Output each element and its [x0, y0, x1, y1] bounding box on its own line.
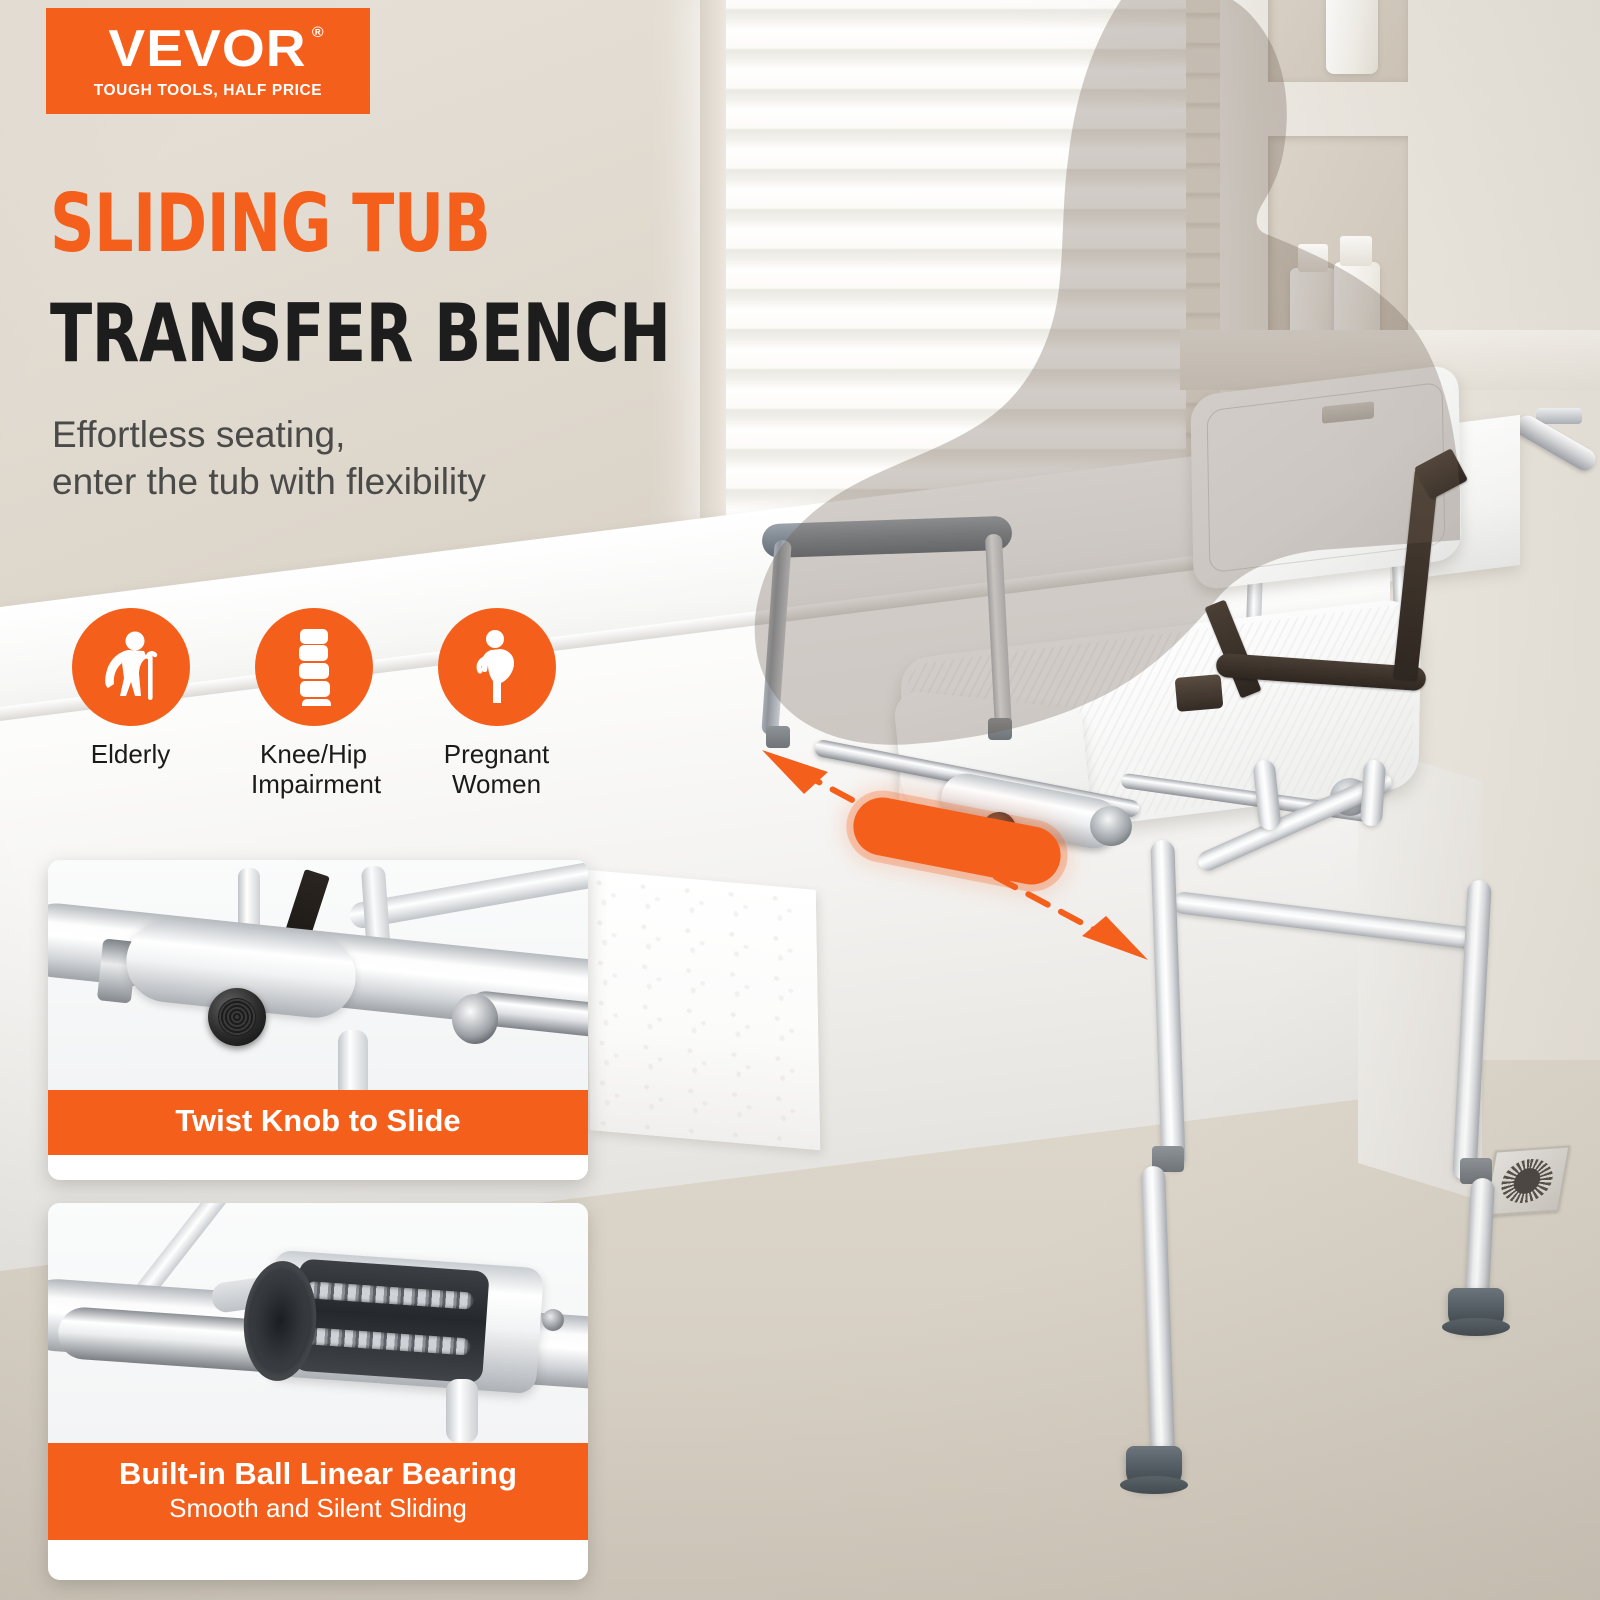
spine-vertebrae-icon: [291, 627, 337, 707]
rubber-foot-right: [1448, 1288, 1504, 1330]
pregnant-woman-icon: [471, 629, 523, 705]
marketing-banner: VEVOR ® TOUGH TOOLS, HALF PRICE SLIDING …: [0, 0, 1600, 1600]
bench-leg-lower-right: [1465, 1177, 1495, 1298]
badge-label-pregnant: Pregnant Women: [434, 740, 559, 799]
audience-badge-pregnant: Pregnant Women: [434, 608, 559, 799]
audience-badge-elderly: Elderly: [68, 608, 193, 799]
housing-screw: [542, 1309, 564, 1331]
rubber-foot-left: [1126, 1446, 1182, 1488]
feature-photo-ball-bearing: [48, 1203, 588, 1443]
seat-support-post-2: [1360, 759, 1387, 826]
safety-belt-buckle: [1175, 674, 1224, 712]
logo-wordmark: VEVOR ®: [109, 23, 307, 75]
feature-caption-1-main: Twist Knob to Slide: [58, 1104, 578, 1139]
logo-word-text: VEVOR: [109, 20, 307, 78]
vevor-logo: VEVOR ® TOUGH TOOLS, HALF PRICE: [46, 8, 370, 114]
badge-circle-spine: [255, 608, 373, 726]
frame-leg: [338, 1030, 368, 1090]
frame-leg: [446, 1379, 478, 1443]
badge-circle-pregnant: [438, 608, 556, 726]
armrest-post-left: [761, 540, 792, 736]
slide-direction-arrow-icon: [700, 720, 1200, 1000]
headline-line-1: SLIDING TUB: [50, 186, 490, 263]
audience-badge-group: Elderly Knee/Hip Impairment: [68, 608, 628, 799]
badge-label-elderly: Elderly: [68, 740, 193, 770]
logo-tagline: TOUGH TOOLS, HALF PRICE: [94, 82, 323, 100]
feature-caption-1: Twist Knob to Slide: [48, 1090, 588, 1155]
feature-card-twist-knob: Twist Knob to Slide: [48, 860, 588, 1180]
ball-row-upper: [305, 1281, 474, 1310]
feature-photo-twist-knob: [48, 860, 588, 1090]
feature-caption-2-main: Built-in Ball Linear Bearing: [58, 1457, 578, 1492]
badge-circle-elderly: [72, 608, 190, 726]
bearing-cap: [452, 994, 498, 1044]
twist-knob-closeup: [208, 988, 266, 1046]
elderly-with-cane-icon: [98, 630, 164, 704]
ball-row-lower: [302, 1327, 471, 1356]
bench-leg-lower-left: [1141, 1166, 1175, 1457]
headline-line-2: TRANSFER BENCH: [50, 296, 670, 373]
badge-label-knee-hip: Knee/Hip Impairment: [251, 740, 376, 799]
feature-caption-2: Built-in Ball Linear Bearing Smooth and …: [48, 1443, 588, 1540]
armrest-grip[interactable]: [761, 516, 1012, 559]
bearing-cutaway: [292, 1259, 489, 1384]
feature-caption-2-sub: Smooth and Silent Sliding: [58, 1494, 578, 1524]
frame-crossbar-lower: [1172, 891, 1488, 951]
subheadline: Effortless seating, enter the tub with f…: [52, 412, 486, 505]
registered-trademark-icon: ®: [312, 25, 325, 40]
feature-card-ball-bearing: Built-in Ball Linear Bearing Smooth and …: [48, 1203, 588, 1580]
audience-badge-knee-hip: Knee/Hip Impairment: [251, 608, 376, 799]
